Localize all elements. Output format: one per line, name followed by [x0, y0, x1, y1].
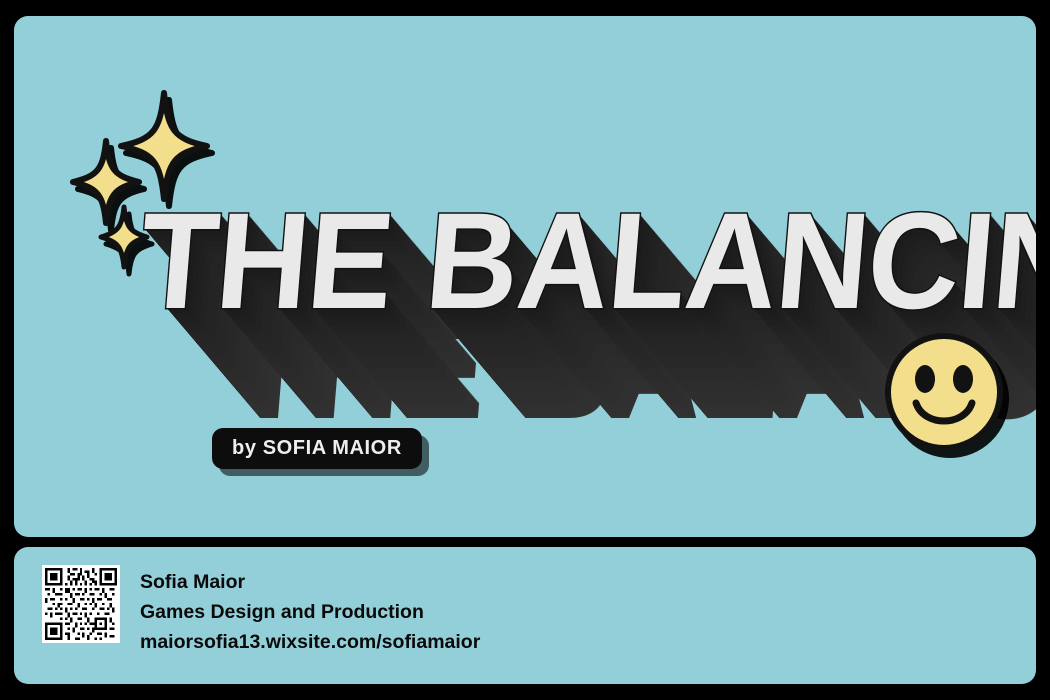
- poster-title: THE BALANCING ACT THE BALANCING ACT: [146, 192, 1006, 382]
- footer-panel: Sofia Maior Games Design and Production …: [14, 547, 1036, 684]
- byline-badge: by SOFIA MAIOR: [212, 428, 422, 469]
- main-panel: THE BALANCING ACT THE BALANCING ACT by S…: [14, 16, 1036, 537]
- qr-code[interactable]: [42, 565, 120, 643]
- footer-line-name: Sofia Maior: [140, 567, 480, 597]
- title-face: THE BALANCING ACT: [135, 192, 1036, 332]
- smiley-face-icon: [883, 331, 1005, 453]
- poster-canvas: THE BALANCING ACT THE BALANCING ACT by S…: [0, 0, 1050, 700]
- footer-line-role: Games Design and Production: [140, 597, 480, 627]
- footer-text-block: Sofia Maior Games Design and Production …: [140, 565, 480, 657]
- byline-text: by SOFIA MAIOR: [232, 437, 402, 460]
- footer-line-url[interactable]: maiorsofia13.wixsite.com/sofiamaior: [140, 627, 480, 657]
- footer-content: Sofia Maior Games Design and Production …: [42, 565, 480, 657]
